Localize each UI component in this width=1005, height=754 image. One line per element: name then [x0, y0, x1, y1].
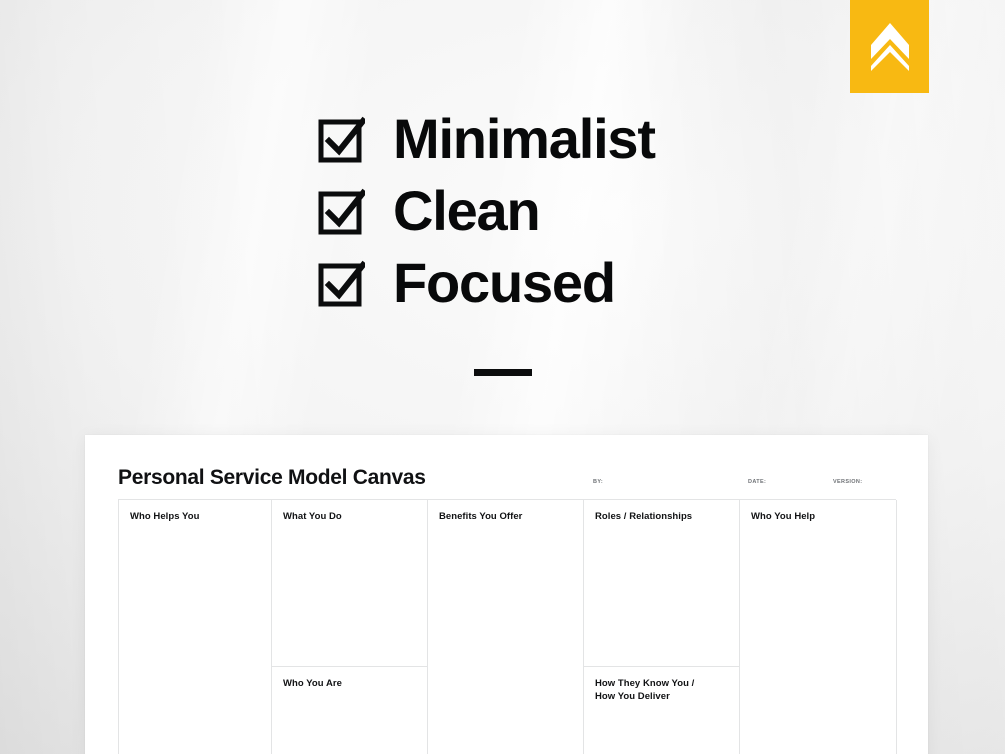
- checkbox-checked-icon: [318, 188, 365, 235]
- checkbox-checked-icon: [318, 260, 365, 307]
- document-header: Personal Service Model Canvas BY: DATE: …: [85, 435, 928, 499]
- canvas-cell-label: How They Know You / How You Deliver: [595, 677, 728, 703]
- canvas-cell[interactable]: What You Do: [272, 500, 427, 667]
- canvas-cell-label: Benefits You Offer: [439, 510, 572, 523]
- canvas-cell-label: Who You Are: [283, 677, 416, 690]
- chevron-up-logo-icon: [869, 21, 911, 73]
- brand-badge: [850, 0, 929, 93]
- canvas-column-who-helps-you: Who Helps You: [119, 500, 272, 754]
- canvas-cell-label: Roles / Relationships: [595, 510, 728, 523]
- checklist-item-label: Clean: [393, 183, 540, 239]
- canvas-cell[interactable]: Who Helps You: [119, 500, 271, 754]
- canvas-cell-label: What You Do: [283, 510, 416, 523]
- canvas-cell[interactable]: Roles / Relationships: [584, 500, 739, 667]
- mockup-stage: Minimalist Clean Focused: [0, 0, 1005, 754]
- canvas-cell[interactable]: Benefits You Offer: [428, 500, 583, 754]
- version-field-label: VERSION:: [833, 479, 862, 485]
- canvas-cell-label: Who Helps You: [130, 510, 260, 523]
- canvas-column-benefits-you-offer: Benefits You Offer: [428, 500, 584, 754]
- checklist-item: Clean: [0, 175, 1005, 247]
- checklist-item-label: Minimalist: [393, 111, 655, 167]
- canvas-cell[interactable]: How They Know You / How You Deliver: [584, 667, 739, 754]
- canvas-grid: Who Helps You What You Do Who You Are Be…: [118, 499, 896, 754]
- canvas-cell[interactable]: Who You Help: [740, 500, 896, 754]
- page-title: Personal Service Model Canvas: [118, 466, 426, 490]
- canvas-column-what-you-do: What You Do Who You Are: [272, 500, 428, 754]
- date-field-label: DATE:: [748, 479, 766, 485]
- canvas-cell[interactable]: Who You Are: [272, 667, 427, 754]
- checklist-item-label: Focused: [393, 255, 615, 311]
- checkbox-checked-icon: [318, 116, 365, 163]
- checklist-hero: Minimalist Clean Focused: [0, 103, 1005, 319]
- by-field-label: BY:: [593, 479, 603, 485]
- canvas-column-who-you-help: Who You Help: [740, 500, 897, 754]
- canvas-document-card: Personal Service Model Canvas BY: DATE: …: [85, 435, 928, 754]
- checklist-item: Minimalist: [0, 103, 1005, 175]
- canvas-column-roles-relationships: Roles / Relationships How They Know You …: [584, 500, 740, 754]
- canvas-cell-label: Who You Help: [751, 510, 885, 523]
- checklist-item: Focused: [0, 247, 1005, 319]
- hero-divider: [474, 369, 532, 376]
